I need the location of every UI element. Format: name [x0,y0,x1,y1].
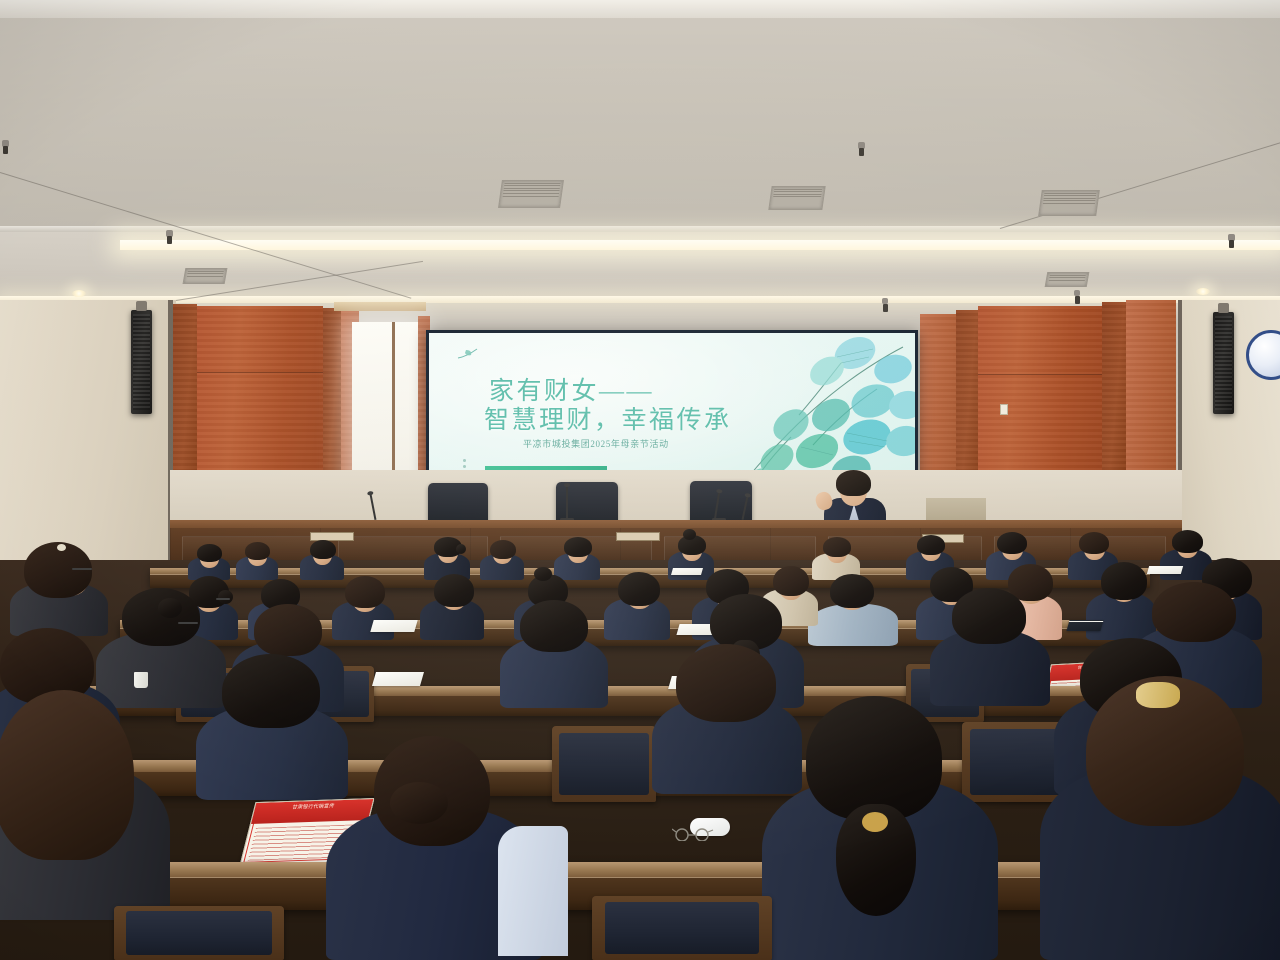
audience-person-foreground-far-right [1040,676,1280,960]
notebook [1066,620,1103,631]
line-array-speaker-left [131,310,152,414]
handout-paper [370,620,417,632]
speaker-mount-bracket-right [1218,303,1229,313]
person-hair [520,600,588,652]
hair-clip-icon [57,544,66,551]
person-hair [434,574,474,607]
hair-tie-icon [862,812,888,832]
person-hair [917,535,945,555]
person-hair [310,540,336,559]
person-hair [122,588,200,646]
audience-person [554,540,600,580]
drinking-cup [134,672,148,688]
person-hair [618,572,660,606]
audience-person-glasses [10,556,108,636]
sprinkler-head-icon [166,230,173,237]
person-hair [952,588,1026,644]
audience-person-foreground-right [762,696,998,960]
air-vent-icon [183,268,228,284]
person-hair [806,696,942,820]
audience-chair[interactable] [592,896,772,960]
audience-chair[interactable] [114,906,284,960]
person-hair [676,644,776,722]
recessed-downlight [72,290,86,297]
audience-person-foreground-left [0,690,170,920]
audience-person [480,542,524,580]
person-hair [564,537,592,557]
audience-chair[interactable] [552,726,656,802]
sprinkler-head-icon [882,298,888,304]
nameplate [616,532,660,541]
conference-room-photo: 家有财女—— 智慧理财，幸福传承 平凉市城投集团2025年母亲节活动 甘肃银行：… [0,0,1280,960]
audience-person [300,542,344,580]
wood-panel-seam [978,374,1102,375]
person-hair [1079,532,1109,554]
person-hair [773,566,809,596]
audience-person [420,580,484,640]
sprinkler-head-icon [1074,290,1080,296]
person-hair-bun [390,782,448,824]
handout-paper [372,672,424,686]
audience-person [188,546,230,580]
audience-person [930,594,1050,706]
sprinkler-head-icon [858,142,865,149]
person-hair-bun [683,529,696,540]
person-hair [222,654,320,728]
speaker-mount-bracket-left [136,301,147,311]
cove-light-strip [120,240,1280,250]
line-array-speaker-right [1213,312,1234,414]
presenter-hair [836,470,871,496]
air-vent-icon [498,180,564,208]
stage-back-wall [170,470,1182,522]
audience-person [236,544,278,580]
person-hair [823,537,851,557]
microphone-icon [566,486,568,520]
person-torso [808,604,898,646]
person-hair [1152,582,1236,642]
person-hair-long [0,690,134,860]
audience-person [500,604,608,708]
sprinkler-head-icon [1228,234,1235,241]
slide-title-line-2: 智慧理财，幸福传承 [484,400,732,436]
air-vent-icon [1045,272,1090,287]
eyeglasses-icon [72,568,92,570]
person-hair [254,604,322,656]
person-hair [490,540,516,559]
person-hair [830,574,874,608]
person-hair [997,532,1027,554]
person-hair-bun [158,598,182,618]
light-switch-plate[interactable] [1000,404,1008,415]
window-head-trim [334,302,426,311]
handout-paper [671,568,703,575]
person-hair [345,576,385,608]
audience-person-denim [808,584,898,646]
chair-cushion [605,902,760,954]
speaker-grille [133,314,150,410]
hair-bow-icon [1136,682,1180,708]
slide-subtitle: 平凉市城投集团2025年母亲节活动 [523,437,669,450]
chair-cushion [559,733,648,795]
person-shirt-sleeve [498,826,568,956]
sprinkler-head-icon [2,140,9,147]
wood-panel-seam [197,372,323,373]
chair-cushion [126,911,272,955]
air-vent-icon [768,186,825,210]
nameplate [310,532,354,541]
slide-logo-icon [457,347,479,361]
head-table-chair[interactable] [428,483,488,525]
person-hair [1172,530,1203,553]
eyeglasses-on-desk-icon [672,828,714,841]
person-hair [245,542,270,560]
speaker-grille [1215,316,1232,410]
eyeglasses-icon [178,622,198,624]
air-vent-icon [1038,190,1100,216]
person-hair-bun [456,544,466,554]
ceiling-top-lip [0,0,1280,18]
audience-person [604,578,670,640]
person-hair-bun [534,567,552,581]
person-hair [197,544,222,562]
recessed-downlight [1196,288,1210,295]
